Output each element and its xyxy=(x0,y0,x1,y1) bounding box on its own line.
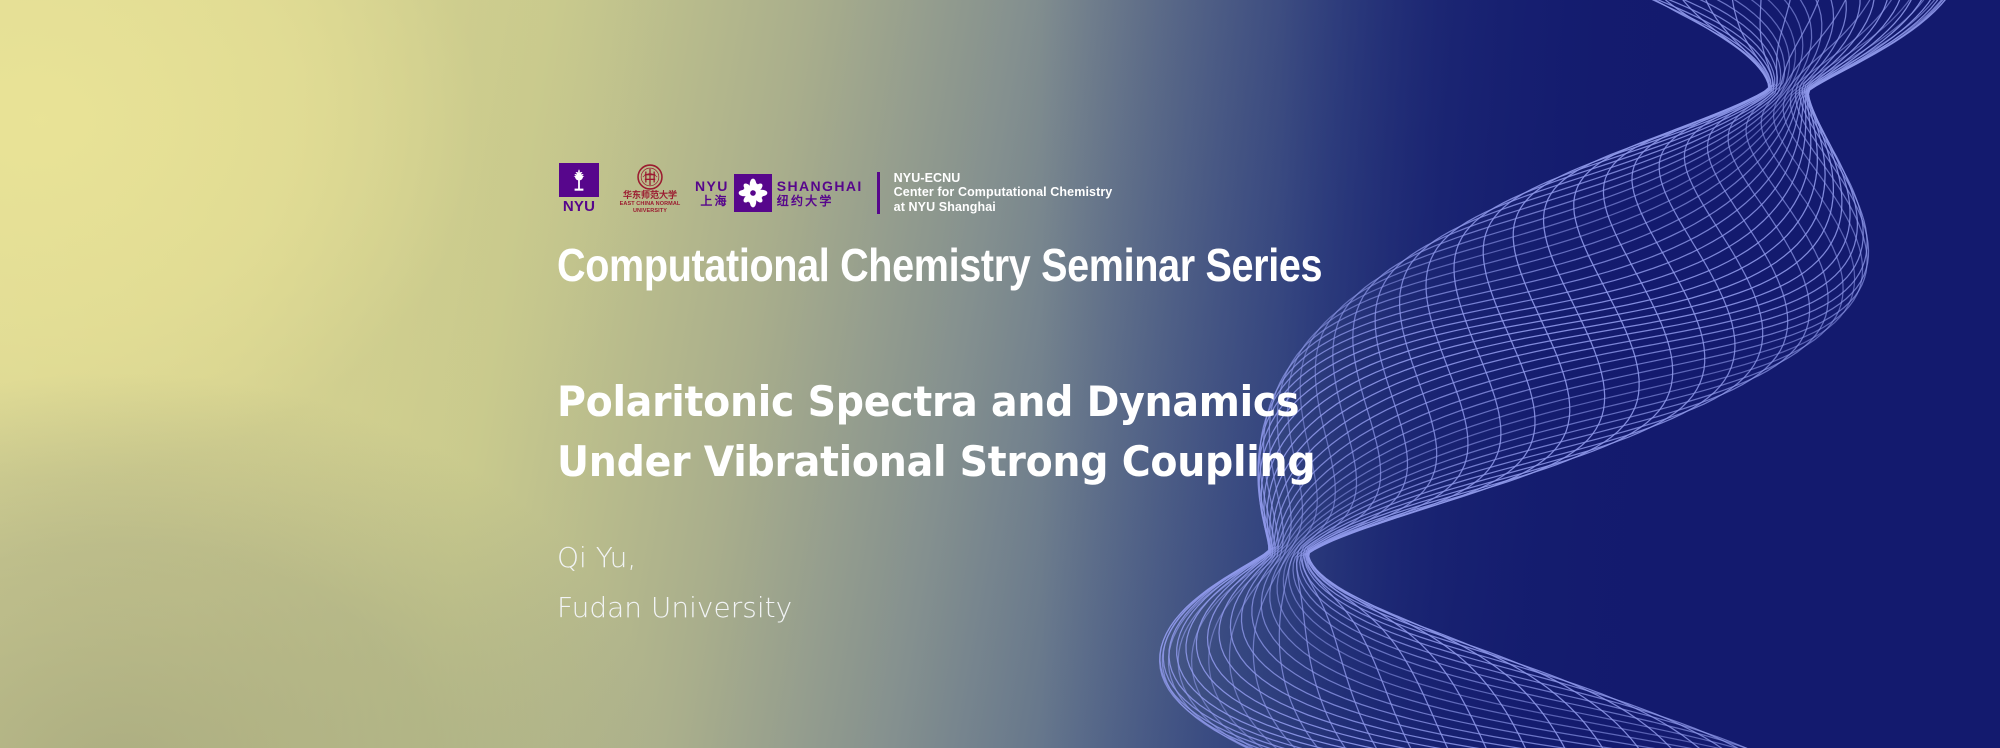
ecnu-chinese-name: 华东师范大学 xyxy=(623,191,677,201)
speaker-name: Qi Yu, xyxy=(557,533,792,583)
nyu-shanghai-chinese-left: 上海 xyxy=(695,194,729,209)
chrysanthemum-flower-icon xyxy=(734,174,772,212)
center-name-line-1: NYU-ECNU xyxy=(894,171,1113,186)
nyu-shanghai-left-text: NYU 上海 xyxy=(695,178,729,209)
lockup-divider xyxy=(877,172,880,214)
series-title: Computational Chemistry Seminar Series xyxy=(557,240,1322,290)
seminar-announcement-banner: NYU 华东师范大学 EAST CHINA NORMAL xyxy=(0,0,2000,748)
talk-title-line-1: Polaritonic Spectra and Dynamics xyxy=(557,372,1315,432)
nyu-logo: NYU xyxy=(557,163,601,214)
ecnu-english-line-2: UNIVERSITY xyxy=(633,208,667,215)
center-name-block: NYU-ECNU Center for Computational Chemis… xyxy=(894,171,1113,215)
speaker-block: Qi Yu, Fudan University xyxy=(557,533,792,633)
nyu-wordmark: NYU xyxy=(563,199,595,214)
talk-title: Polaritonic Spectra and Dynamics Under V… xyxy=(557,372,1315,492)
nyu-shanghai-logo: NYU 上海 xyxy=(695,172,863,214)
center-name-line-3: at NYU Shanghai xyxy=(894,200,1113,215)
speaker-affiliation: Fudan University xyxy=(557,583,792,633)
ecnu-logo: 华东师范大学 EAST CHINA NORMAL UNIVERSITY xyxy=(619,164,681,214)
nyu-torch-icon xyxy=(559,163,599,197)
nyu-shanghai-latin-left: NYU xyxy=(695,178,729,194)
ecnu-seal-icon xyxy=(637,164,663,190)
nyu-shanghai-right-text: SHANGHAI 纽约大学 xyxy=(777,178,863,209)
nyu-shanghai-latin-right: SHANGHAI xyxy=(777,178,863,194)
nyu-shanghai-chinese-right: 纽约大学 xyxy=(777,194,863,209)
logo-lockup: NYU 华东师范大学 EAST CHINA NORMAL xyxy=(557,166,1112,214)
center-name-line-2: Center for Computational Chemistry xyxy=(894,185,1113,200)
talk-title-line-2: Under Vibrational Strong Coupling xyxy=(557,432,1315,492)
banner-content: NYU 华东师范大学 EAST CHINA NORMAL xyxy=(557,0,1557,748)
